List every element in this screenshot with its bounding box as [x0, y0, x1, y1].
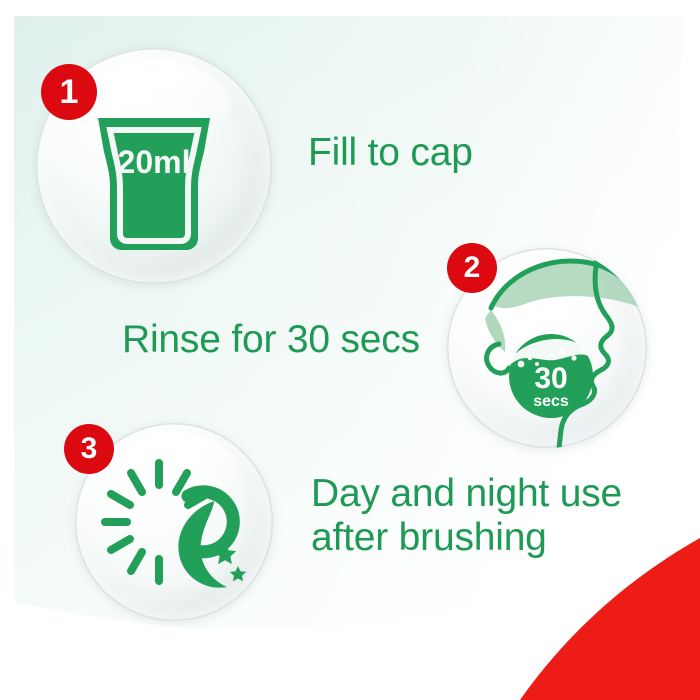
step-number-badge-2: 2 — [447, 243, 497, 293]
step-number-badge-1: 1 — [41, 64, 97, 120]
star-small-icon — [230, 566, 246, 581]
duration-unit-label: secs — [533, 393, 569, 410]
duration-number-label: 30 — [534, 362, 567, 395]
step-caption-1: Fill to cap — [308, 131, 473, 175]
instruction-graphic: 20ml 1 Fill to cap — [0, 0, 700, 700]
step-caption-3: Day and night use after brushing — [311, 472, 622, 559]
step-caption-2: Rinse for 30 secs — [122, 318, 420, 362]
step-number-badge-3: 3 — [64, 424, 114, 474]
cup-volume-label: 20ml — [118, 144, 191, 180]
